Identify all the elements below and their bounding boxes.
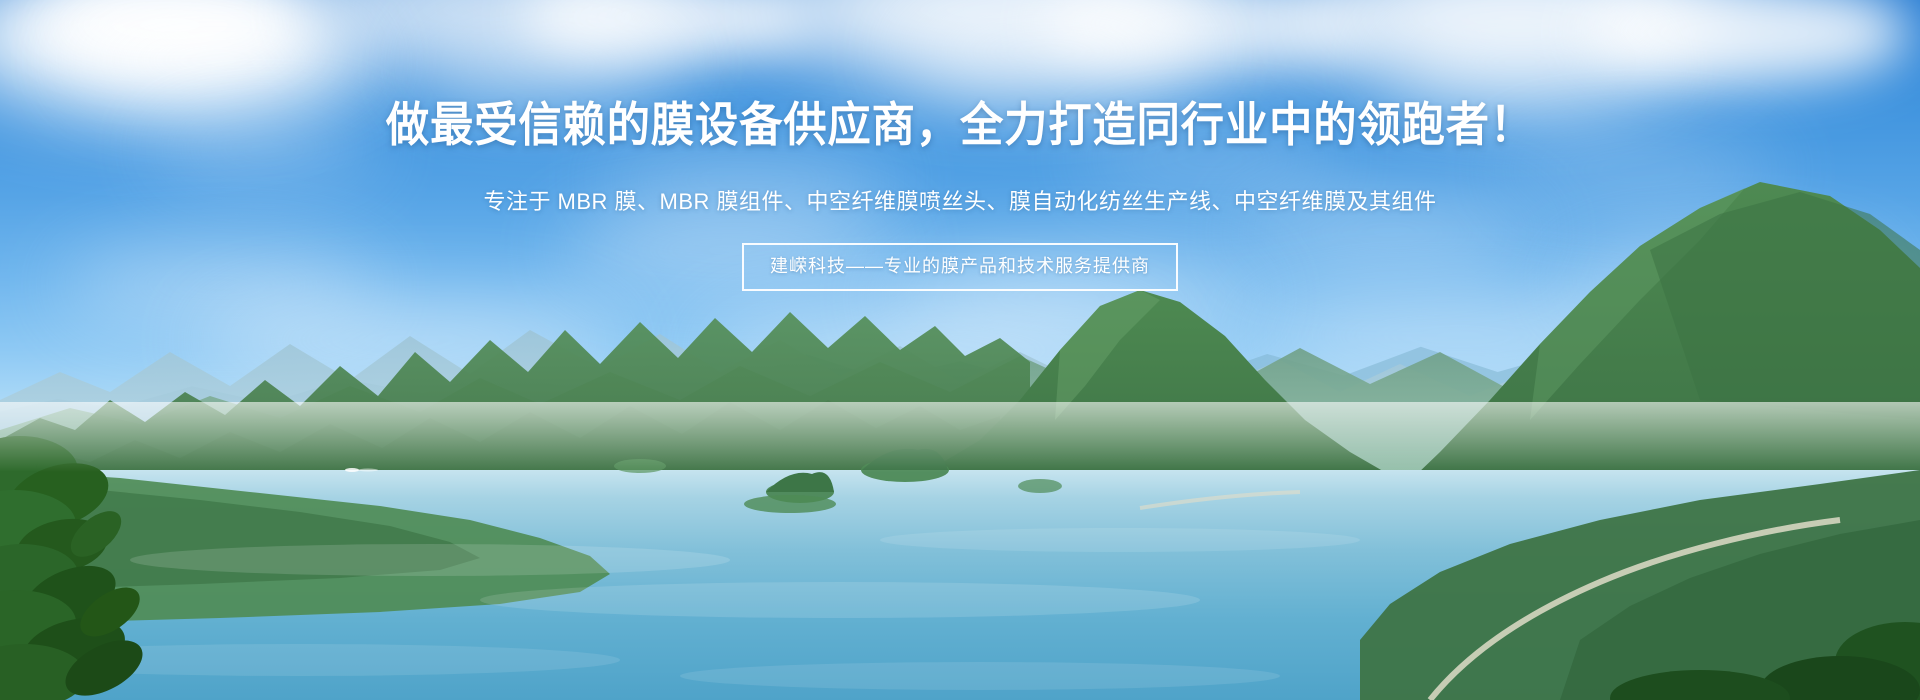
water-shimmer (0, 402, 1920, 472)
banner-tagline-box[interactable]: 建嵘科技——专业的膜产品和技术服务提供商 (742, 243, 1178, 291)
hero-banner: 做最受信赖的膜设备供应商，全力打造同行业中的领跑者！ 专注于 MBR 膜、MBR… (0, 0, 1920, 700)
mountain-range (0, 0, 1920, 700)
